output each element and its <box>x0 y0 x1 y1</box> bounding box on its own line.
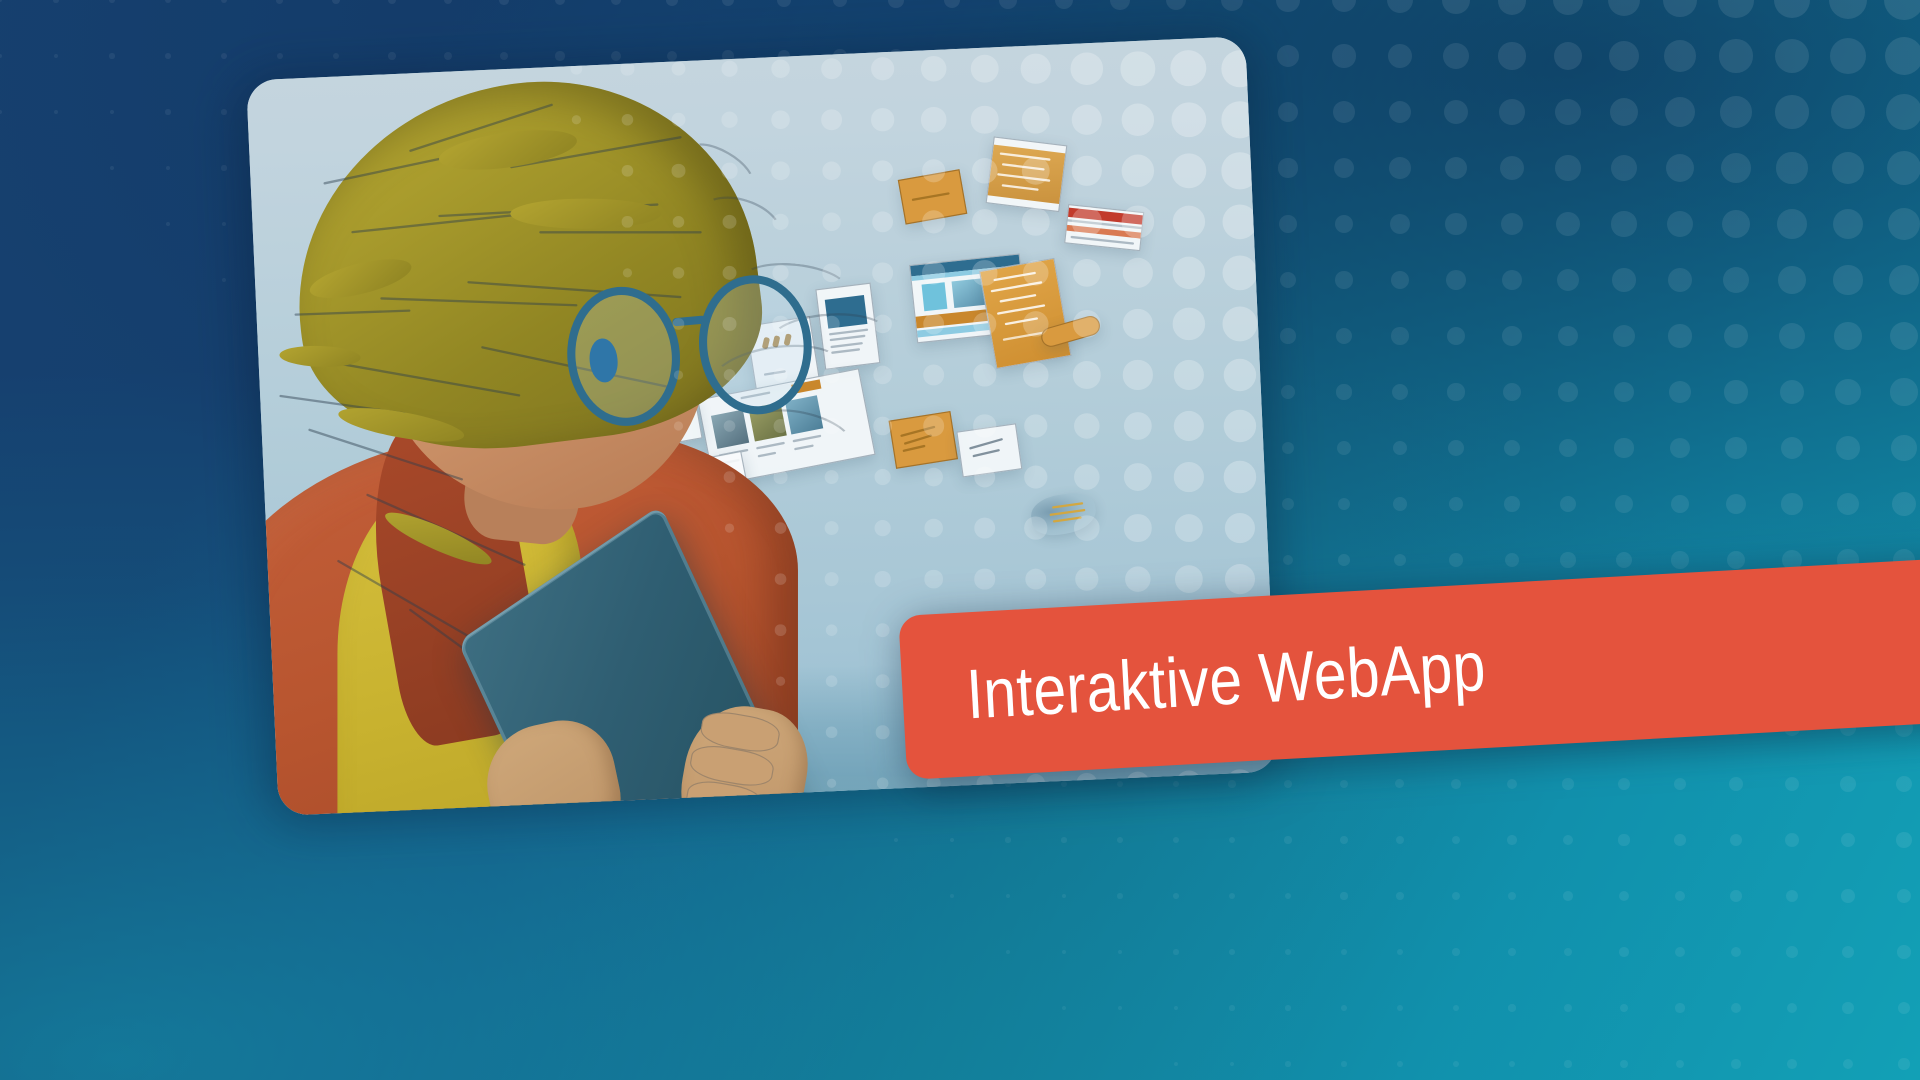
page-stage: Interaktive WebApp <box>0 0 1920 1080</box>
banner-label: Interaktive WebApp <box>965 631 1488 729</box>
eye-pupil <box>588 337 621 384</box>
child-figure <box>246 67 913 815</box>
floating-card <box>1064 204 1144 252</box>
glasses-icon <box>562 270 818 430</box>
glasses-lens-left <box>562 282 686 431</box>
floating-card <box>956 424 1022 479</box>
floating-card <box>986 137 1068 213</box>
glasses-lens-right <box>694 270 818 419</box>
